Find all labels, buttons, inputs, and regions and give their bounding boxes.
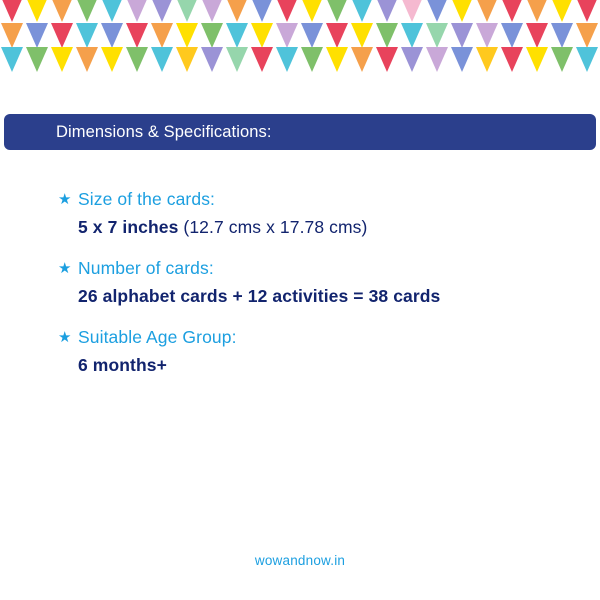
- pennant-triangle: [26, 0, 48, 22]
- spec-value-strong: 6 months+: [78, 355, 167, 375]
- pennant-triangle: [351, 0, 373, 22]
- pennant-triangle: [451, 0, 473, 22]
- star-icon: ★: [58, 257, 78, 280]
- bunting-row: [0, 23, 600, 49]
- pennant-triangle: [401, 47, 423, 72]
- pennant-triangle: [376, 23, 398, 48]
- pennant-triangle: [351, 23, 373, 48]
- pennant-triangle: [501, 0, 523, 22]
- pennant-triangle: [51, 23, 73, 48]
- pennant-triangle: [526, 0, 548, 22]
- pennant-triangle: [551, 0, 573, 22]
- pennant-triangle: [176, 23, 198, 48]
- spec-label-row: ★ Size of the cards:: [58, 188, 578, 211]
- pennant-triangle: [101, 23, 123, 48]
- pennant-triangle: [301, 47, 323, 72]
- pennant-triangle: [326, 47, 348, 72]
- pennant-triangle: [201, 0, 223, 22]
- bunting-row: [0, 47, 600, 73]
- pennant-triangle: [426, 23, 448, 48]
- pennant-triangle: [26, 23, 48, 48]
- pennant-triangle: [76, 47, 98, 72]
- list-item: ★ Size of the cards: 5 x 7 inches (12.7 …: [58, 188, 578, 239]
- pennant-triangle: [251, 47, 273, 72]
- pennant-triangle: [201, 47, 223, 72]
- star-icon: ★: [58, 326, 78, 349]
- pennant-triangle: [151, 23, 173, 48]
- section-title-bar: Dimensions & Specifications:: [4, 114, 596, 150]
- pennant-triangle: [151, 0, 173, 22]
- spec-label: Number of cards:: [78, 257, 214, 280]
- pennant-triangle: [276, 23, 298, 48]
- pennant-triangle: [401, 23, 423, 48]
- pennant-triangle: [501, 23, 523, 48]
- pennant-triangle: [451, 23, 473, 48]
- pennant-triangle: [276, 47, 298, 72]
- pennant-triangle: [151, 47, 173, 72]
- pennant-triangle: [301, 23, 323, 48]
- pennant-triangle: [351, 47, 373, 72]
- list-item: ★ Number of cards: 26 alphabet cards + 1…: [58, 257, 578, 308]
- pennant-triangle: [501, 47, 523, 72]
- pennant-triangle: [451, 47, 473, 72]
- pennant-triangle: [126, 23, 148, 48]
- pennant-triangle: [401, 0, 423, 22]
- pennant-triangle: [226, 23, 248, 48]
- spec-value: 26 alphabet cards + 12 activities = 38 c…: [78, 285, 578, 308]
- pennant-triangle: [226, 0, 248, 22]
- pennant-triangle: [51, 0, 73, 22]
- pennant-triangle: [476, 47, 498, 72]
- pennant-triangle: [51, 47, 73, 72]
- footer-website-label: wowandnow.in: [255, 553, 345, 568]
- pennant-triangle: [126, 0, 148, 22]
- footer: wowandnow.in: [0, 552, 600, 570]
- pennant-triangle: [326, 0, 348, 22]
- spec-value: 6 months+: [78, 354, 578, 377]
- spec-label: Suitable Age Group:: [78, 326, 237, 349]
- pennant-triangle: [101, 0, 123, 22]
- spec-value-normal: (12.7 cms x 17.78 cms): [178, 217, 367, 237]
- pennant-triangle: [251, 0, 273, 22]
- spec-label: Size of the cards:: [78, 188, 215, 211]
- pennant-triangle: [476, 0, 498, 22]
- pennant-triangle: [1, 0, 23, 22]
- pennant-triangle: [76, 23, 98, 48]
- pennant-triangle: [551, 23, 573, 48]
- spec-label-row: ★ Number of cards:: [58, 257, 578, 280]
- pennant-triangle: [376, 0, 398, 22]
- pennant-triangle: [26, 47, 48, 72]
- bunting-row: [0, 0, 600, 23]
- star-icon: ★: [58, 188, 78, 211]
- pennant-triangle: [201, 23, 223, 48]
- pennant-triangle: [526, 47, 548, 72]
- pennant-triangle: [551, 47, 573, 72]
- pennant-triangle: [251, 23, 273, 48]
- pennant-triangle: [576, 47, 598, 72]
- pennant-triangle: [176, 0, 198, 22]
- spec-value-strong: 5 x 7 inches: [78, 217, 178, 237]
- pennant-triangle: [1, 23, 23, 48]
- pennant-triangle: [426, 47, 448, 72]
- pennant-triangle: [576, 23, 598, 48]
- pennant-triangle: [476, 23, 498, 48]
- bunting-banner: [0, 0, 600, 78]
- pennant-triangle: [126, 47, 148, 72]
- pennant-triangle: [576, 0, 598, 22]
- pennant-triangle: [376, 47, 398, 72]
- pennant-triangle: [426, 0, 448, 22]
- spec-label-row: ★ Suitable Age Group:: [58, 326, 578, 349]
- spec-value: 5 x 7 inches (12.7 cms x 17.78 cms): [78, 216, 578, 239]
- pennant-triangle: [226, 47, 248, 72]
- pennant-triangle: [176, 47, 198, 72]
- specifications-list: ★ Size of the cards: 5 x 7 inches (12.7 …: [58, 188, 578, 395]
- pennant-triangle: [1, 47, 23, 72]
- spec-value-strong: 26 alphabet cards + 12 activities = 38 c…: [78, 286, 440, 306]
- pennant-triangle: [101, 47, 123, 72]
- pennant-triangle: [276, 0, 298, 22]
- pennant-triangle: [301, 0, 323, 22]
- pennant-triangle: [526, 23, 548, 48]
- pennant-triangle: [76, 0, 98, 22]
- list-item: ★ Suitable Age Group: 6 months+: [58, 326, 578, 377]
- pennant-triangle: [326, 23, 348, 48]
- page-title: Dimensions & Specifications:: [56, 123, 272, 142]
